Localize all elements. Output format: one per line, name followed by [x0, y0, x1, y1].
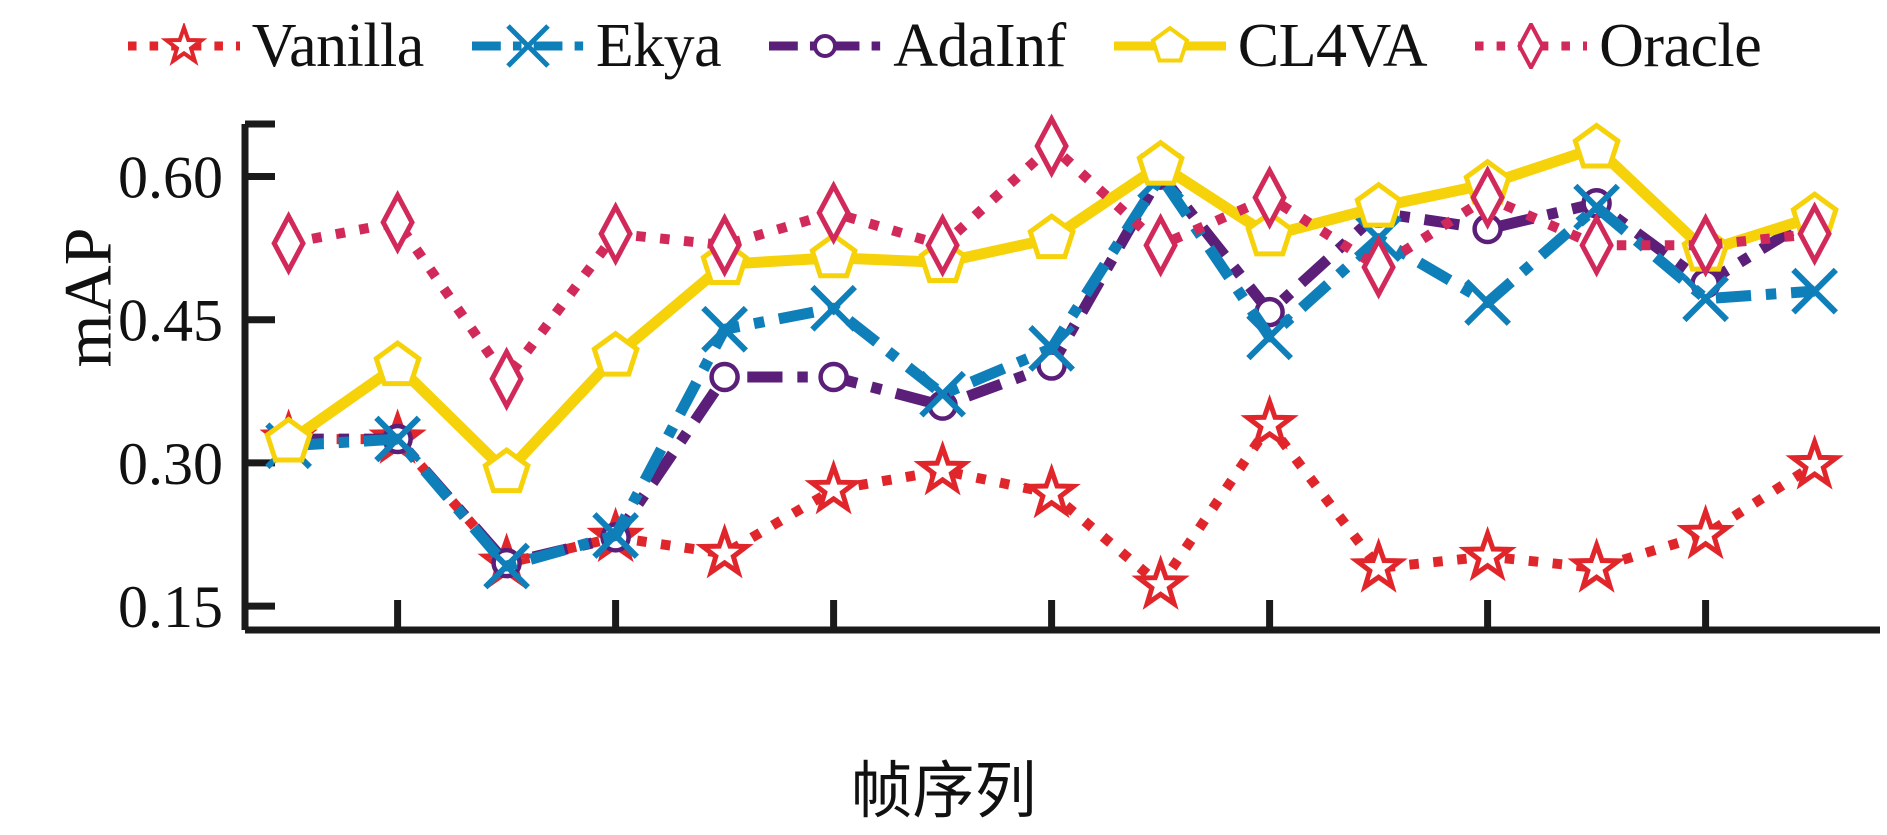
data-point-marker: [812, 287, 855, 330]
data-point-marker: [703, 531, 747, 573]
legend-item-ekya[interactable]: Ekya: [470, 15, 721, 77]
line-chart-svg: 0.150.300.450.605001 0001 5002 0002 5003…: [0, 92, 1887, 652]
pentagon-marker-icon: [1112, 23, 1228, 69]
legend-label: AdaInf: [893, 15, 1066, 77]
legend-item-vanilla[interactable]: Vanilla: [126, 15, 424, 77]
legend-label: CL4VA: [1238, 15, 1427, 77]
data-point-marker: [1357, 185, 1400, 226]
data-point-marker: [274, 216, 303, 270]
star-marker-icon: [126, 23, 242, 69]
data-point-marker: [376, 343, 419, 384]
legend-label: Vanilla: [252, 15, 424, 77]
data-point-marker: [1582, 218, 1611, 272]
x-tick-label: 2 000: [984, 651, 1119, 652]
data-point-marker: [1357, 545, 1401, 587]
x-tick-label: 3 000: [1420, 651, 1555, 652]
legend-item-adainf[interactable]: AdaInf: [767, 15, 1066, 77]
legend-label: Ekya: [596, 15, 721, 77]
x-tick-label: 1 500: [766, 651, 901, 652]
data-point-marker: [1466, 281, 1509, 324]
plot-area: 0.150.300.450.605001 0001 5002 0002 5003…: [0, 92, 1887, 652]
y-tick-label: 0.15: [118, 574, 223, 640]
y-tick-label: 0.45: [118, 288, 223, 354]
x-axis-label: 帧序列: [0, 740, 1887, 830]
x-tick-label: 3 500: [1638, 651, 1773, 652]
data-point-marker: [1466, 533, 1510, 575]
data-point-marker: [1255, 171, 1284, 225]
data-point-marker: [1575, 545, 1619, 587]
series-cl4va: [267, 125, 1836, 490]
data-point-marker: [383, 195, 412, 249]
x-cross-marker-icon: [470, 23, 586, 69]
data-point-marker: [1037, 119, 1066, 173]
y-tick-label: 0.30: [118, 431, 223, 497]
data-point-marker: [1684, 512, 1728, 554]
x-tick-label: 2 500: [1202, 651, 1337, 652]
chart-legend: VanillaEkyaAdaInfCL4VAOracle: [0, 0, 1887, 92]
x-tick-label: 1 000: [548, 651, 683, 652]
data-point-marker: [819, 186, 848, 240]
data-point-marker: [712, 364, 738, 390]
y-tick-label: 0.60: [118, 145, 223, 211]
data-point-marker: [492, 352, 521, 406]
data-point-marker: [1575, 125, 1618, 166]
x-tick-label: 500: [353, 651, 443, 652]
circle-marker-icon: [767, 23, 883, 69]
legend-item-cl4va[interactable]: CL4VA: [1112, 15, 1427, 77]
figure-root: VanillaEkyaAdaInfCL4VAOracle 0.150.300.4…: [0, 0, 1887, 835]
diamond-marker-icon: [1473, 23, 1589, 69]
y-axis-label: mAP: [49, 148, 128, 448]
data-point-marker: [1146, 218, 1175, 272]
data-series: [267, 119, 1837, 604]
data-point-marker: [921, 448, 965, 490]
data-point-marker: [821, 364, 847, 390]
data-point-marker: [1139, 143, 1182, 184]
legend-item-oracle[interactable]: Oracle: [1473, 15, 1761, 77]
legend-label: Oracle: [1599, 15, 1761, 77]
